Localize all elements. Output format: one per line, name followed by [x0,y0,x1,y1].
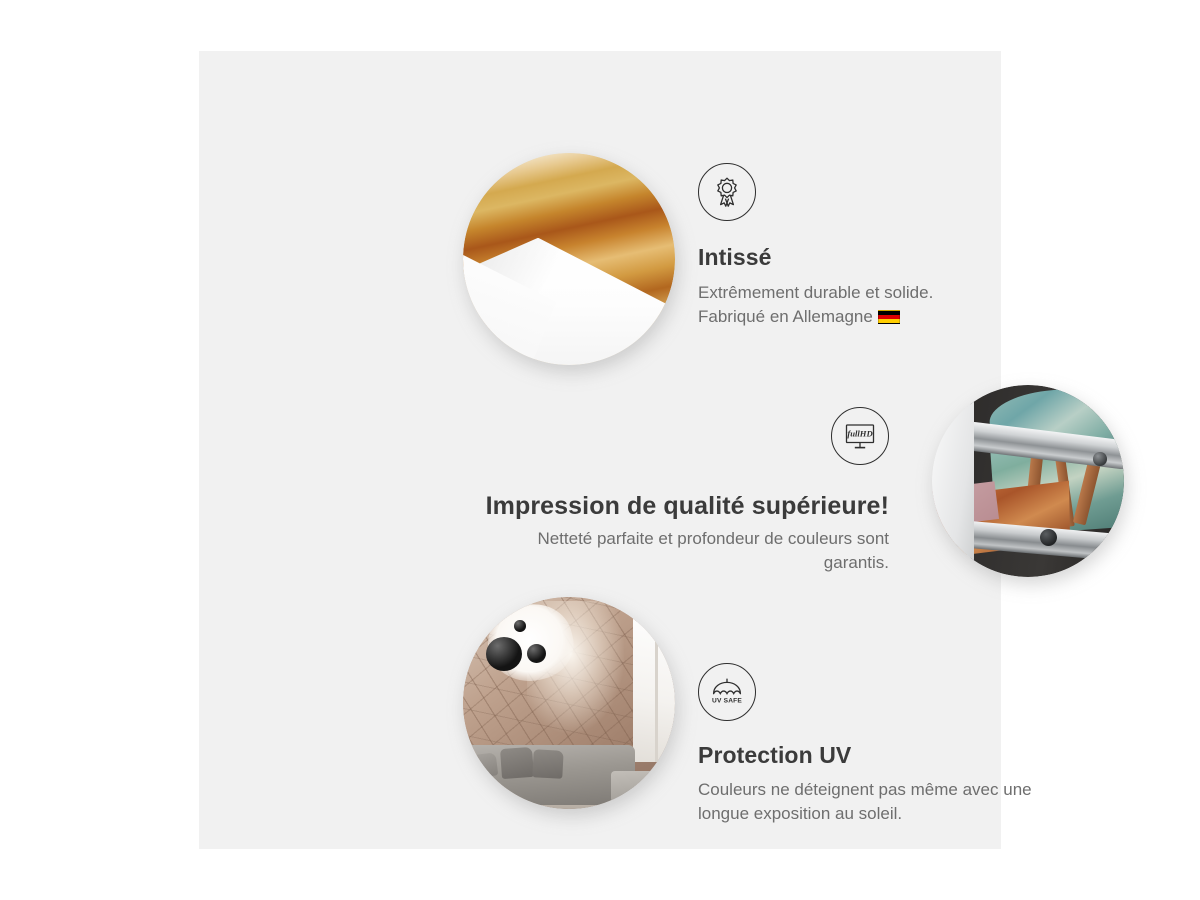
feature-body-line-1: Couleurs ne déteignent pas même avec une [698,778,1078,802]
sofa-cushion-right [532,749,563,778]
feature-body-line-2: garantis. [479,551,889,575]
feature-body-line-2: longue exposition au soleil. [698,802,1078,826]
uv-safe-umbrella-icon: UV SAFE [698,663,756,721]
feature-title-print: Impression de qualité supérieure! [479,491,889,522]
room-window-frame [655,605,658,762]
ottoman [611,771,662,803]
feature-title-uv: Protection UV [698,741,1078,770]
circular-photo-printing-press [932,385,1124,577]
feature-title-nonwoven: Intissé [698,243,1028,272]
feature-image-uv [463,597,675,809]
sofa-cushion-left [468,752,498,778]
feature-image-print [932,385,1124,577]
product-feature-page: Intissé Extrêmement durable et solide. F… [0,0,1200,900]
room-window [633,605,675,762]
machine-side-panel [932,397,974,574]
feature-body-nonwoven: Extrêmement durable et solide. Fabriqué … [698,281,1028,329]
living-room-scene [463,597,675,809]
feature-body-line-1: Netteté parfaite et profondeur de couleu… [479,527,889,551]
circular-photo-living-room [463,597,675,809]
sofa-cushion-middle [500,746,534,778]
feature-body-print: Netteté parfaite et profondeur de couleu… [479,527,889,575]
svg-text:UV SAFE: UV SAFE [712,697,742,704]
circular-photo-wallpaper-roll [463,153,675,365]
feature-text-uv: UV SAFE Protection UV Couleurs ne déteig… [698,663,1078,826]
svg-text:fullHD: fullHD [847,429,872,439]
fullhd-monitor-icon: fullHD [831,407,889,465]
mural-dark-sphere-medium [527,644,546,663]
feature-body-line-2: Fabriqué en Allemagne [698,305,1028,329]
machine-knob-lower [1040,529,1057,546]
content-panel: Intissé Extrêmement durable et solide. F… [199,51,1001,849]
award-rosette-icon [698,163,756,221]
printing-machine-scene [932,385,1124,577]
feature-text-nonwoven: Intissé Extrêmement durable et solide. F… [698,163,1028,329]
feature-image-nonwoven [463,153,675,365]
feature-body-line-1: Extrêmement durable et solide. [698,281,1028,305]
german-flag-icon [878,310,900,324]
feature-text-print: fullHD Impression de qualité supérieure!… [479,407,889,576]
feature-body-line-2-text: Fabriqué en Allemagne [698,307,873,326]
mural-dark-sphere-small [514,620,526,632]
machine-knob-upper [1093,452,1106,465]
feature-body-uv: Couleurs ne déteignent pas même avec une… [698,778,1078,826]
